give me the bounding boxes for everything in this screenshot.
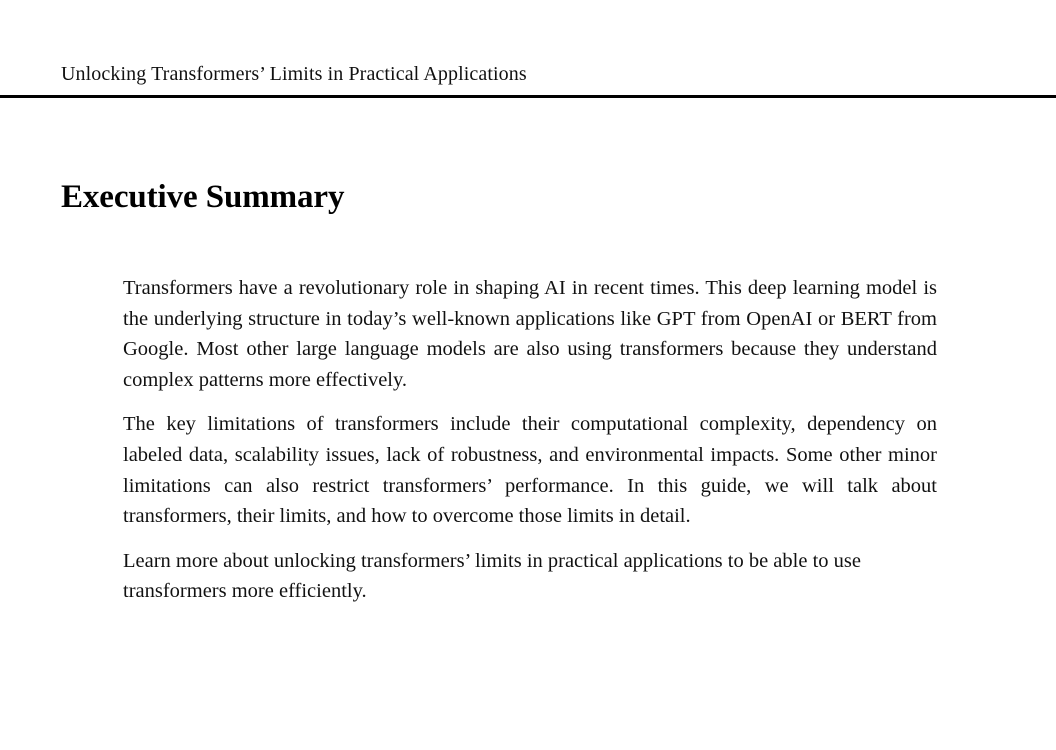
running-header-title: Unlocking Transformers’ Limits in Practi… xyxy=(61,63,527,86)
body-paragraph: Learn more about unlocking transformers’… xyxy=(123,546,937,607)
document-page: Unlocking Transformers’ Limits in Practi… xyxy=(0,0,1056,750)
body-paragraph: The key limitations of transformers incl… xyxy=(123,409,937,531)
body-paragraph: Transformers have a revolutionary role i… xyxy=(123,273,937,395)
body-copy: Transformers have a revolutionary role i… xyxy=(123,273,937,607)
document-content: Executive Summary Transformers have a re… xyxy=(0,98,1056,750)
section-heading: Executive Summary xyxy=(61,179,344,216)
page-header: Unlocking Transformers’ Limits in Practi… xyxy=(0,0,1056,98)
